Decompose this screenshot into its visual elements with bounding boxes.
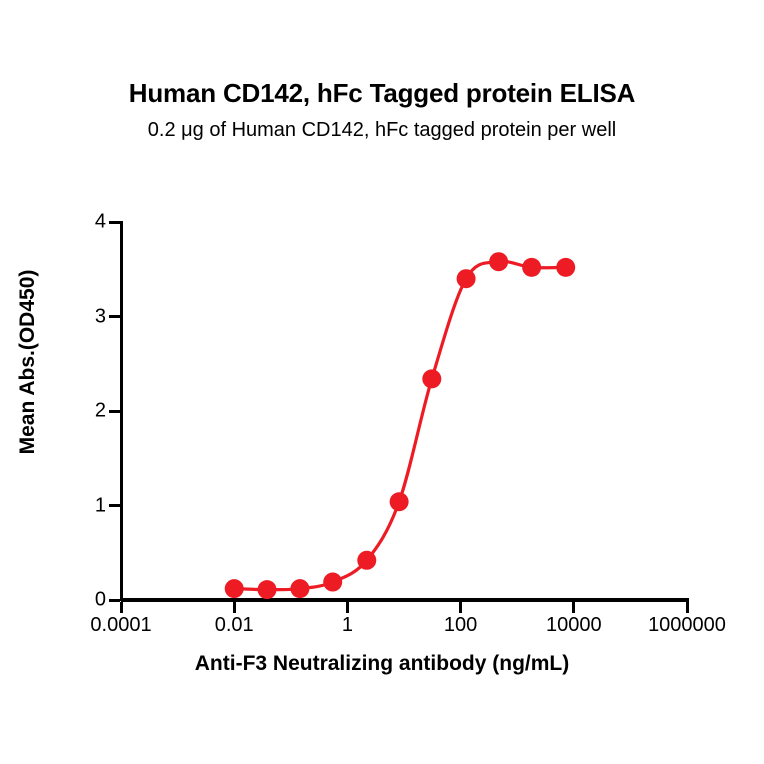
data-point [390, 492, 409, 511]
data-point [556, 258, 575, 277]
series-line [234, 261, 566, 589]
data-point [457, 269, 476, 288]
data-point [290, 579, 309, 598]
data-point [422, 369, 441, 388]
data-point [258, 580, 277, 599]
chart-root: Human CD142, hFc Tagged protein ELISA 0.… [0, 0, 764, 764]
data-series-plot [0, 0, 764, 764]
y-axis-title: Mean Abs.(OD450) [16, 182, 40, 542]
data-point [357, 551, 376, 570]
data-point [323, 573, 342, 592]
x-axis-title: Anti-F3 Neutralizing antibody (ng/mL) [0, 652, 764, 676]
data-point [225, 579, 244, 598]
data-point [522, 258, 541, 277]
data-point [489, 252, 508, 271]
